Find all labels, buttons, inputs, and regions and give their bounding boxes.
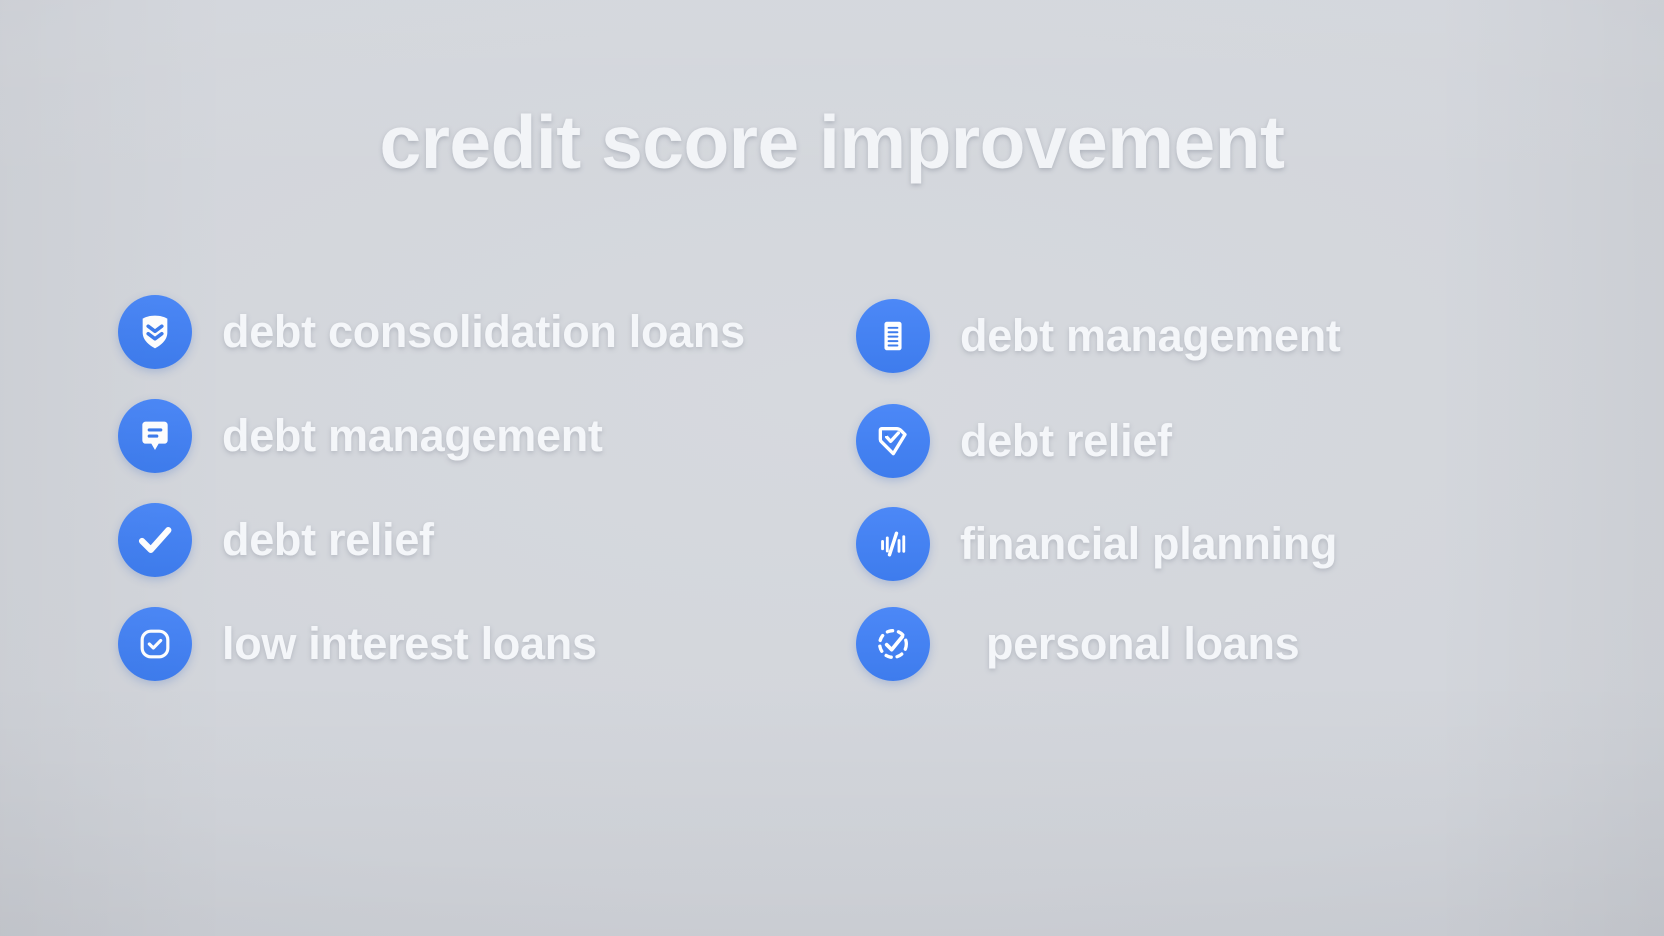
list-item[interactable]: personal loans <box>856 602 1299 686</box>
list-item[interactable]: debt relief <box>856 399 1172 483</box>
list-item-label: financial planning <box>960 518 1337 570</box>
list-item-label: debt relief <box>960 415 1172 467</box>
list-item[interactable]: financial planning <box>856 502 1337 586</box>
list-item[interactable]: low interest loans <box>118 602 597 686</box>
list-item-label: debt relief <box>222 514 434 566</box>
tag-check-icon <box>856 404 930 478</box>
list-item[interactable]: debt management <box>118 394 603 478</box>
list-item-label: debt consolidation loans <box>222 306 745 358</box>
chat-bubble-lines-icon <box>118 399 192 473</box>
list-item-label: personal loans <box>986 618 1299 670</box>
list-item-label: debt management <box>222 410 603 462</box>
slide-canvas: credit score improvement debt consolidat… <box>0 0 1664 936</box>
list-item[interactable]: debt relief <box>118 498 434 582</box>
shield-chevrons-icon <box>118 295 192 369</box>
list-item-label: low interest loans <box>222 618 597 670</box>
list-item[interactable]: debt management <box>856 294 1341 378</box>
activity-bars-icon <box>856 507 930 581</box>
document-lines-icon <box>856 299 930 373</box>
check-icon <box>118 503 192 577</box>
rounded-square-check-icon <box>118 607 192 681</box>
dashed-circle-check-icon <box>856 607 930 681</box>
list-item[interactable]: debt consolidation loans <box>118 290 745 374</box>
list-item-label: debt management <box>960 310 1341 362</box>
keyword-columns: debt consolidation loans debt management <box>0 0 1664 936</box>
